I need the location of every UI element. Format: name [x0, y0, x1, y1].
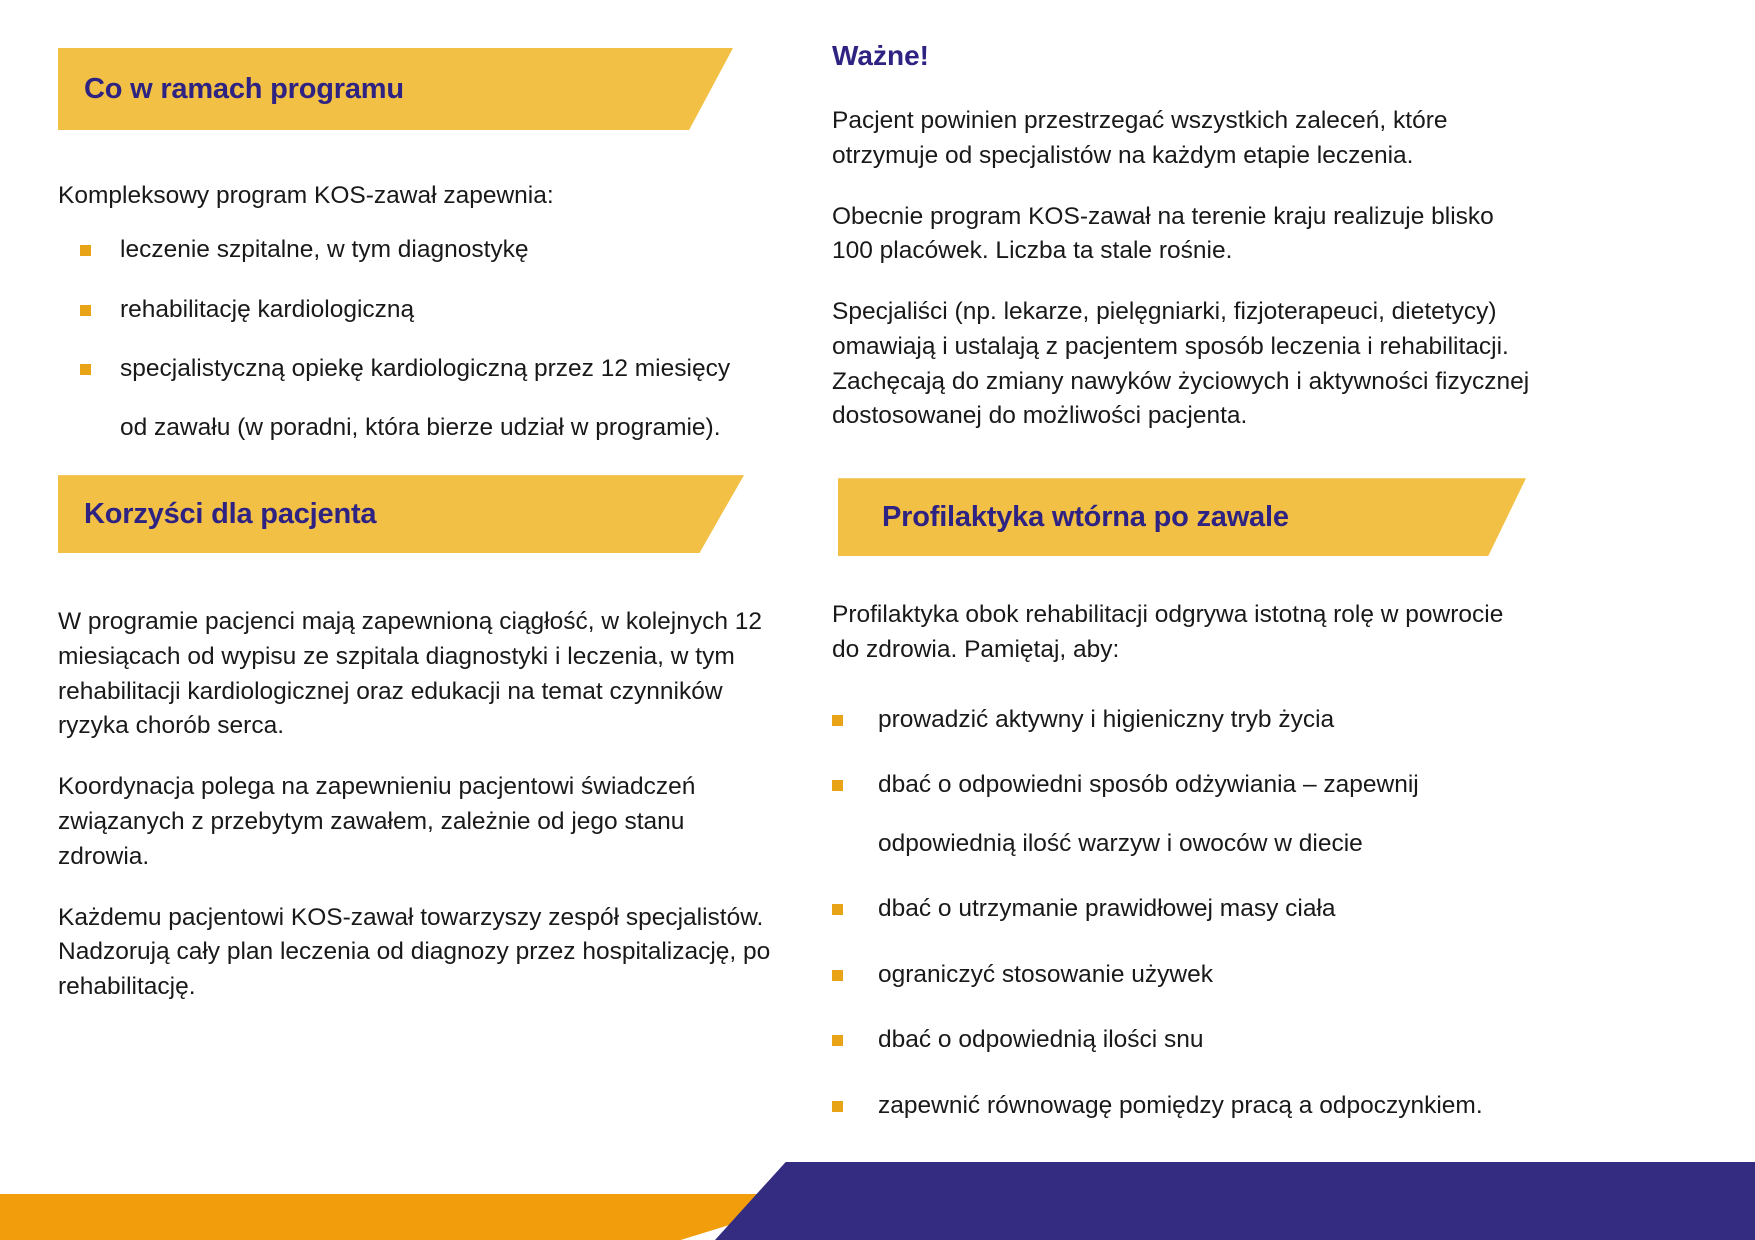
list-item-label: rehabilitację kardiologiczną	[120, 296, 414, 323]
list-item-continuation: od zawału (w poradni, która bierze udzia…	[120, 410, 778, 446]
bullet-square-icon	[80, 245, 91, 256]
right-heading-wazne: Ważne!	[832, 40, 1532, 72]
left-paragraph-2: Koordynacja polega na zapewnieniu pacjen…	[58, 770, 778, 874]
bullet-square-icon	[832, 1035, 843, 1046]
list-item: zapewnić równowagę pomiędzy pracą a odpo…	[832, 1088, 1532, 1124]
list-item-label: specjalistyczną opiekę kardiologiczną pr…	[120, 355, 730, 382]
list-item-continuation: odpowiednią ilość warzyw i owoców w diec…	[878, 826, 1532, 862]
banner-label: Profilaktyka wtórna po zawale	[882, 501, 1289, 534]
right-bullet-list: prowadzić aktywny i higieniczny tryb życ…	[832, 702, 1532, 1124]
left-column: Co w ramach programu Kompleksowy program…	[58, 48, 778, 1005]
banner-label: Co w ramach programu	[84, 73, 404, 106]
list-item-label: dbać o utrzymanie prawidłowej masy ciała	[878, 895, 1336, 922]
list-item: leczenie szpitalne, w tym diagnostykę	[58, 232, 778, 268]
left-paragraph-3: Każdemu pacjentowi KOS-zawał towarzyszy …	[58, 901, 778, 1005]
bullet-square-icon	[832, 904, 843, 915]
list-item: ograniczyć stosowanie używek	[832, 957, 1532, 993]
bullet-square-icon	[832, 1101, 843, 1112]
list-item-label: dbać o odpowiedni sposób odżywiania – za…	[878, 771, 1419, 798]
bullet-square-icon	[832, 780, 843, 791]
list-item-label: prowadzić aktywny i higieniczny tryb życ…	[878, 706, 1334, 733]
right-column: Ważne! Pacjent powinien przestrzegać wsz…	[832, 40, 1532, 1153]
list-item: dbać o odpowiedni sposób odżywiania – za…	[832, 767, 1532, 861]
right-paragraph-1: Pacjent powinien przestrzegać wszystkich…	[832, 104, 1532, 174]
footer-navy-band	[715, 1162, 1755, 1240]
right-intro-text: Profilaktyka obok rehabilitacji odgrywa …	[832, 598, 1532, 668]
footer-orange-band	[0, 1194, 830, 1240]
right-paragraph-2: Obecnie program KOS-zawał na terenie kra…	[832, 200, 1532, 270]
list-item-label: dbać o odpowiednią ilości snu	[878, 1026, 1204, 1053]
list-item: specjalistyczną opiekę kardiologiczną pr…	[58, 351, 778, 445]
list-item-label: zapewnić równowagę pomiędzy pracą a odpo…	[878, 1092, 1483, 1119]
bullet-square-icon	[832, 970, 843, 981]
list-item-label: ograniczyć stosowanie używek	[878, 961, 1213, 988]
banner-korzysci-dla-pacjenta: Korzyści dla pacjenta	[58, 475, 744, 553]
banner-label: Korzyści dla pacjenta	[84, 498, 376, 531]
left-bullet-list: leczenie szpitalne, w tym diagnostykę re…	[58, 232, 778, 445]
list-item: rehabilitację kardiologiczną	[58, 292, 778, 328]
bullet-square-icon	[80, 305, 91, 316]
list-item: prowadzić aktywny i higieniczny tryb życ…	[832, 702, 1532, 738]
list-item-label: leczenie szpitalne, w tym diagnostykę	[120, 236, 529, 263]
banner-co-w-ramach-programu: Co w ramach programu	[58, 48, 733, 130]
list-item: dbać o odpowiednią ilości snu	[832, 1022, 1532, 1058]
bullet-square-icon	[80, 364, 91, 375]
slide-canvas: Co w ramach programu Kompleksowy program…	[0, 0, 1755, 1240]
left-paragraph-1: W programie pacjenci mają zapewnioną cią…	[58, 605, 778, 744]
bullet-square-icon	[832, 715, 843, 726]
banner-profilaktyka-wtorna: Profilaktyka wtórna po zawale	[838, 478, 1526, 556]
list-item: dbać o utrzymanie prawidłowej masy ciała	[832, 891, 1532, 927]
left-lead-text: Kompleksowy program KOS-zawał zapewnia:	[58, 182, 778, 210]
right-paragraph-3: Specjaliści (np. lekarze, pielęgniarki, …	[832, 295, 1532, 434]
